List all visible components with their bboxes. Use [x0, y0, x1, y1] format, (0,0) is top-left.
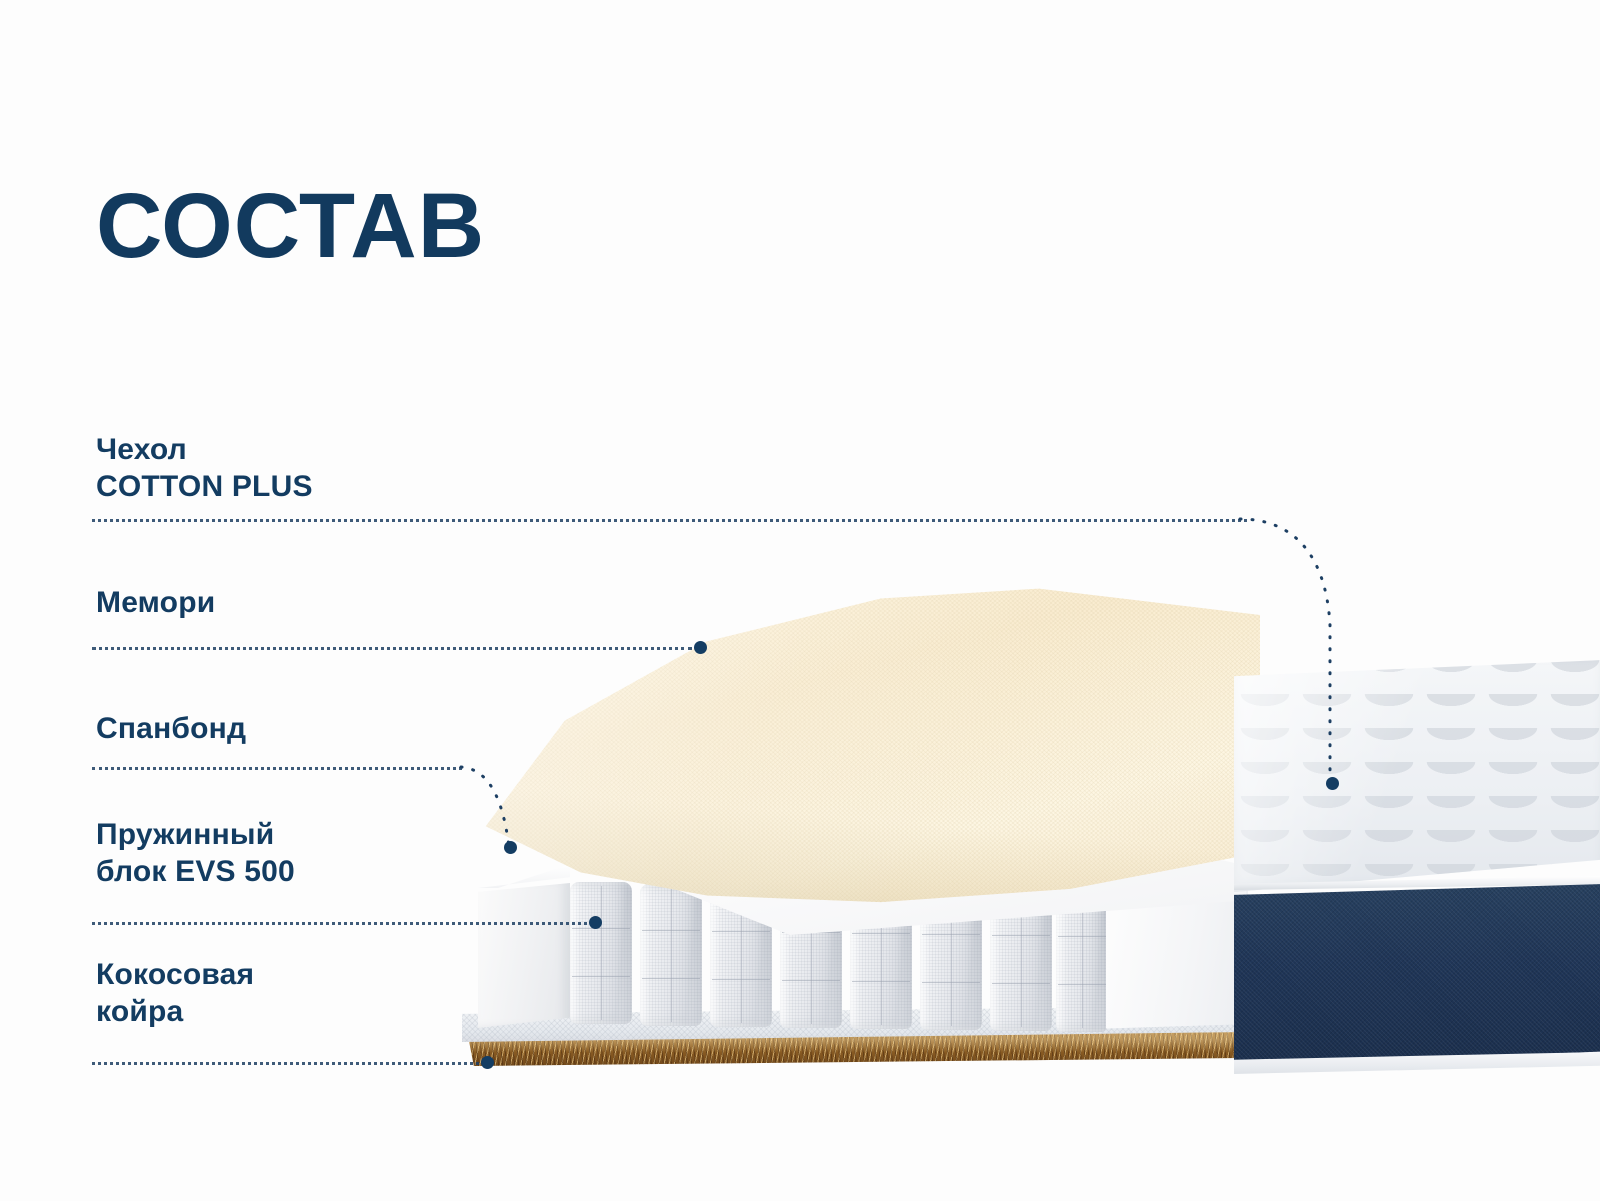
spring-crease: [671, 888, 672, 1022]
leader-line-springs: [92, 922, 587, 928]
layer-label-spanbond: Спанбонд: [96, 711, 246, 748]
layer-label-springs: Пружинный блок EVS 500: [96, 817, 295, 890]
leader-dot-coir: [481, 1056, 494, 1069]
layer-label-cover: Чехол COTTON PLUS: [96, 432, 313, 505]
leader-dot-memory: [694, 641, 707, 654]
quilted-cover-sheen: [1234, 660, 1600, 892]
leader-line-spanbond: [92, 767, 462, 773]
layer-label-coir: Кокосовая койра: [96, 957, 254, 1030]
perimeter-foam-left: [478, 880, 570, 1028]
spring-crease: [1082, 894, 1083, 1028]
composition-infographic: СОСТАВ: [0, 0, 1600, 1201]
pocket-spring: [570, 882, 632, 1024]
memory-foam-sheen: [470, 582, 1260, 912]
mattress-side-fabric: DIMAX ТВОИМ ЗДОРОВЫМ СНАМ: [1234, 884, 1600, 1066]
leader-line-coir: [92, 1062, 479, 1068]
spring-crease: [601, 886, 602, 1020]
leader-dot-cover: [1326, 777, 1339, 790]
leader-line-memory: [92, 647, 692, 653]
layer-label-memory: Мемори: [96, 585, 215, 622]
leader-dot-spanbond: [504, 841, 517, 854]
pocket-spring: [640, 884, 702, 1026]
leader-line-cover: [92, 519, 1247, 525]
leader-dot-springs: [589, 916, 602, 929]
